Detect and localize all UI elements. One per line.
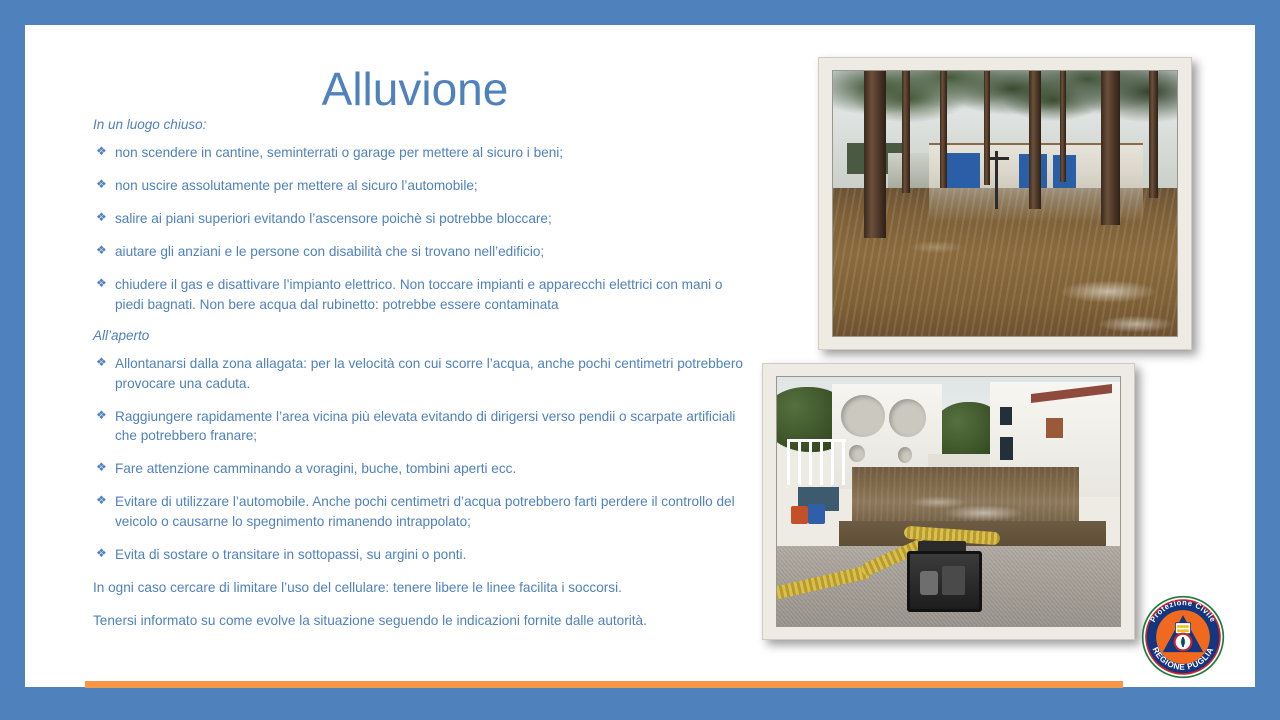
photo-image-area <box>832 70 1178 337</box>
indoor-bullet-list: ❖ non scendere in cantine, seminterrati … <box>93 143 753 315</box>
slide-root: Alluvione In un luogo chiuso: ❖ non scen… <box>0 0 1280 720</box>
pump-intake <box>920 571 938 595</box>
slide-canvas: Alluvione In un luogo chiuso: ❖ non scen… <box>25 25 1255 687</box>
diamond-bullet-icon: ❖ <box>96 545 107 563</box>
list-item-label: Fare attenzione camminando a voragini, b… <box>115 461 516 476</box>
list-item-label: Allontanarsi dalla zona allagata: per la… <box>115 356 743 391</box>
diamond-bullet-icon: ❖ <box>96 209 107 227</box>
pine-trunk <box>902 71 910 193</box>
protezione-civile-regione-puglia-logo: Protezione Civile REGIONE PUGLIA <box>1141 595 1225 679</box>
diamond-bullet-icon: ❖ <box>96 143 107 161</box>
blue-drum <box>808 504 825 524</box>
list-item-label: Raggiungere rapidamente l’area vicina pi… <box>115 409 735 444</box>
list-item-label: aiutare gli anziani e le persone con dis… <box>115 244 544 259</box>
pine-trunk <box>864 71 886 238</box>
diamond-bullet-icon: ❖ <box>96 459 107 477</box>
list-item: ❖ Evitare di utilizzare l’automobile. An… <box>93 492 753 532</box>
pine-trunk <box>1060 71 1066 182</box>
roof-edge <box>1031 384 1112 403</box>
white-railing <box>787 439 845 484</box>
orange-drum <box>791 506 808 523</box>
diamond-bullet-icon: ❖ <box>96 492 107 510</box>
diamond-bullet-icon: ❖ <box>96 354 107 372</box>
list-item: ❖ chiudere il gas e disattivare l’impian… <box>93 275 753 315</box>
pine-trunk <box>940 71 947 188</box>
list-item-label: non scendere in cantine, seminterrati o … <box>115 145 563 160</box>
list-item: ❖ Raggiungere rapidamente l’area vicina … <box>93 407 753 447</box>
pine-trunk <box>1149 71 1158 198</box>
diamond-bullet-icon: ❖ <box>96 176 107 194</box>
water-pump <box>907 551 982 612</box>
list-item: ❖ Evita di sostare o transitare in sotto… <box>93 545 753 565</box>
orange-divider-bar <box>85 681 1123 688</box>
flooded-street-pump-photo <box>762 363 1135 640</box>
closing-paragraph-info: Tenersi informato su come evolve la situ… <box>93 611 753 631</box>
list-item: ❖ Allontanarsi dalla zona allagata: per … <box>93 354 753 394</box>
pump-engine <box>942 566 965 594</box>
porthole-window <box>849 445 864 462</box>
list-item-label: non uscire assolutamente per mettere al … <box>115 178 478 193</box>
outdoor-section-lead: All’aperto <box>93 328 753 345</box>
list-item-label: Evita di sostare o transitare in sottopa… <box>115 547 466 562</box>
arch-opening <box>889 399 926 437</box>
pine-trunk <box>1101 71 1120 225</box>
pine-trunk <box>984 71 990 185</box>
diamond-bullet-icon: ❖ <box>96 275 107 293</box>
list-item: ❖ aiutare gli anziani e le persone con d… <box>93 242 753 262</box>
flooded-campsite-photo <box>818 57 1192 350</box>
list-item-label: salire ai piani superiori evitando l’asc… <box>115 211 552 226</box>
flooded-street-scene <box>777 377 1120 626</box>
blue-door <box>946 153 980 190</box>
content-text-column: In un luogo chiuso: ❖ non scendere in ca… <box>93 117 753 644</box>
diamond-bullet-icon: ❖ <box>96 242 107 260</box>
list-item-label: Evitare di utilizzare l’automobile. Anch… <box>115 494 735 529</box>
signpost <box>995 151 998 209</box>
indoor-section-lead: In un luogo chiuso: <box>93 117 753 134</box>
window <box>1000 407 1012 425</box>
pine-trunk <box>1029 71 1041 209</box>
list-item: ❖ non uscire assolutamente per mettere a… <box>93 176 753 196</box>
list-item-label: chiudere il gas e disattivare l’impianto… <box>115 277 722 312</box>
photo-image-area <box>776 376 1121 627</box>
flooded-campsite-scene <box>833 71 1177 336</box>
closing-paragraph-phone: In ogni caso cercare di limitare l’uso d… <box>93 578 753 598</box>
list-item: ❖ Fare attenzione camminando a voragini,… <box>93 459 753 479</box>
page-title: Alluvione <box>85 65 745 113</box>
window <box>1000 437 1013 460</box>
list-item: ❖ non scendere in cantine, seminterrati … <box>93 143 753 163</box>
diamond-bullet-icon: ❖ <box>96 407 107 425</box>
arch-opening <box>841 395 885 437</box>
porthole-window <box>898 447 912 463</box>
logo-svg: Protezione Civile REGIONE PUGLIA <box>1141 595 1225 679</box>
shutter-window <box>1044 416 1065 439</box>
list-item: ❖ salire ai piani superiori evitando l’a… <box>93 209 753 229</box>
outdoor-bullet-list: ❖ Allontanarsi dalla zona allagata: per … <box>93 354 753 566</box>
